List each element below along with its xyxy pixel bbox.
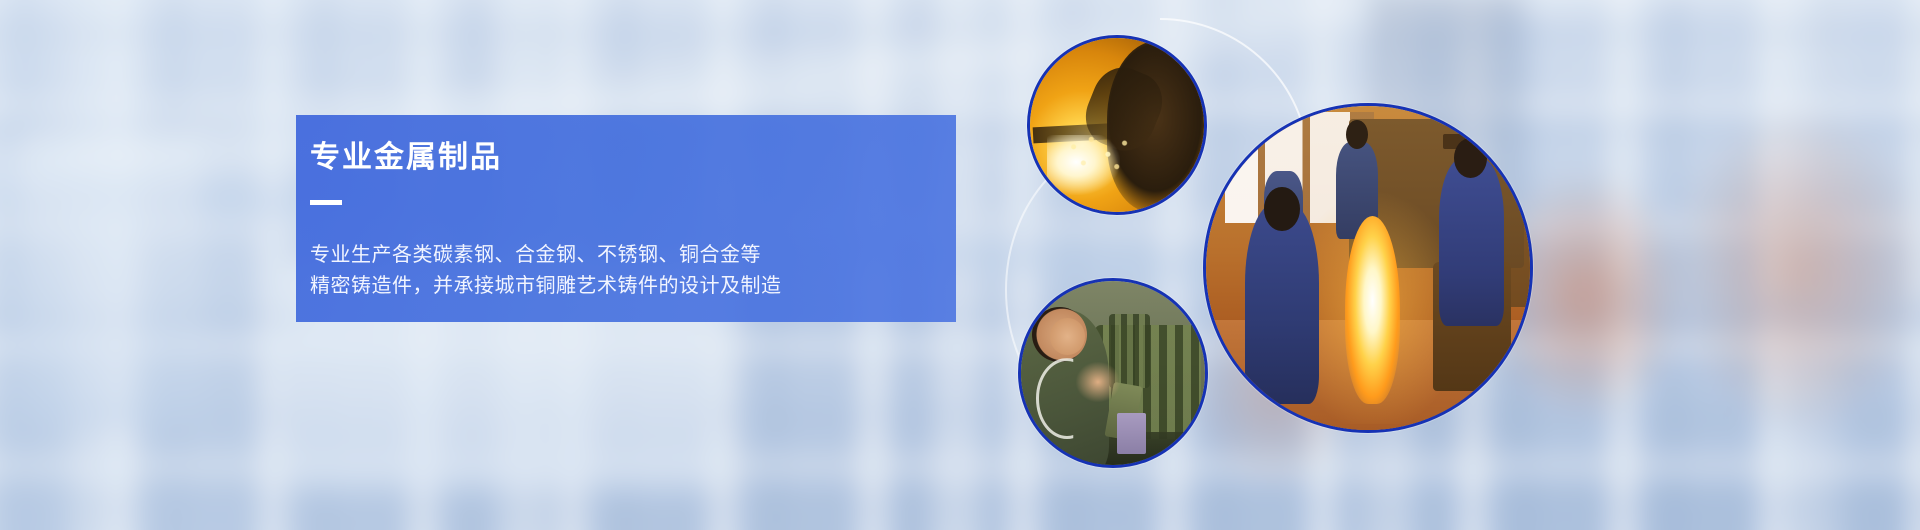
banner-subcopy: 专业生产各类碳素钢、合金钢、不锈钢、铜合金等 精密铸造件，并承接城市铜雕艺术铸件…: [310, 239, 996, 301]
banner-subcopy-line-1: 专业生产各类碳素钢、合金钢、不锈钢、铜合金等: [310, 239, 996, 270]
banner-subcopy-line-2: 精密铸造件，并承接城市铜雕艺术铸件的设计及制造: [310, 270, 996, 301]
accent-rule: [310, 200, 342, 205]
hero-banner: 专业金属制品 专业生产各类碳素钢、合金钢、不锈钢、铜合金等 精密铸造件，并承接城…: [0, 0, 1920, 530]
banner-headline: 专业金属制品: [310, 141, 996, 176]
text-panel-content: 专业金属制品 专业生产各类碳素钢、合金钢、不锈钢、铜合金等 精密铸造件，并承接城…: [296, 115, 996, 322]
